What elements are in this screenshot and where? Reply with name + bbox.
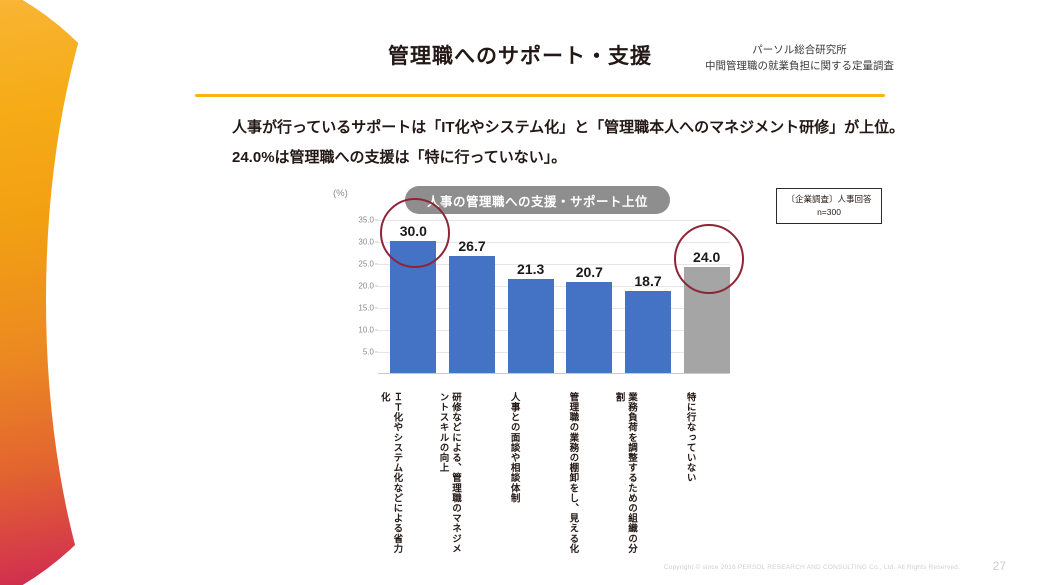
y-axis-tick-label: 10.0: [358, 326, 374, 335]
category-label-3: 人事との面談や相談体制: [474, 392, 520, 557]
y-axis-tick-mark: [375, 308, 378, 309]
chart-title-banner: 人事の管理職への支援・サポート上位: [405, 186, 670, 214]
axis-unit-label: (%): [333, 188, 348, 199]
lead-line-2: 24.0%は管理職への支援は「特に行っていない」。: [232, 143, 932, 173]
y-axis-tick-label: 5.0: [363, 348, 374, 357]
bar-6: 24.0: [684, 267, 730, 373]
bar-value-label: 21.3: [517, 261, 544, 277]
y-axis-tick-label: 30.0: [358, 238, 374, 247]
bar-value-label: 30.0: [400, 223, 427, 239]
y-axis-tick-mark: [375, 330, 378, 331]
bar-1: 30.0: [390, 241, 436, 373]
bar-3: 21.3: [508, 279, 554, 373]
y-axis-tick-label: 20.0: [358, 282, 374, 291]
title-divider-rule: [195, 94, 885, 97]
y-axis-tick-mark: [375, 264, 378, 265]
bar-value-label: 18.7: [634, 273, 661, 289]
y-axis-tick-label: 15.0: [358, 304, 374, 313]
bar-4: 20.7: [566, 282, 612, 373]
page-number: 27: [993, 559, 1006, 573]
bar-value-label: 20.7: [576, 264, 603, 280]
source-organization: パーソル総合研究所: [705, 42, 894, 58]
y-axis-tick-mark: [375, 242, 378, 243]
crescent-cutout: [46, 0, 180, 585]
y-axis-tick-label: 25.0: [358, 260, 374, 269]
category-label-2: 研修などによる、管理職のマネジメントスキルの向上: [415, 392, 461, 557]
source-attribution: パーソル総合研究所 中間管理職の就業負担に関する定量調査: [705, 42, 894, 75]
y-axis-tick-mark: [375, 220, 378, 221]
y-axis-tick-mark: [375, 286, 378, 287]
lead-line-1: 人事が行っているサポートは「IT化やシステム化」と「管理職本人へのマネジメント研…: [232, 113, 932, 143]
bar-5: 18.7: [625, 291, 671, 373]
survey-note-line-2: n=300: [779, 206, 879, 219]
plot-area: 5.010.015.020.025.030.035.0 30.026.721.3…: [352, 220, 730, 374]
survey-note-line-1: 〔企業調査〕人事回答: [779, 193, 879, 206]
lead-summary: 人事が行っているサポートは「IT化やシステム化」と「管理職本人へのマネジメント研…: [232, 113, 932, 173]
bar-2: 26.7: [449, 256, 495, 373]
y-axis-tick-mark: [375, 352, 378, 353]
gridline: [378, 220, 730, 221]
footer-copyright: Copyright © since 2016 PERSOL RESEARCH A…: [664, 564, 960, 571]
plot-frame: 5.010.015.020.025.030.035.0 30.026.721.3…: [378, 220, 730, 374]
source-survey-name: 中間管理職の就業負担に関する定量調査: [705, 58, 894, 74]
chart-container: (%) 人事の管理職への支援・サポート上位 〔企業調査〕人事回答 n=300 5…: [330, 186, 750, 396]
category-label-1: ＩＴ化やシステム化などによる省力化: [356, 392, 402, 557]
bar-value-label: 26.7: [458, 238, 485, 254]
survey-note-box: 〔企業調査〕人事回答 n=300: [776, 188, 882, 224]
category-label-5: 業務負荷を調整するための組織の分割: [591, 392, 637, 557]
gradient-band: [0, 0, 180, 585]
decorative-left-graphic: [0, 0, 180, 585]
bar-value-label: 24.0: [693, 249, 720, 265]
category-axis-labels: ＩＴ化やシステム化などによる省力化研修などによる、管理職のマネジメントスキルの向…: [352, 392, 752, 562]
category-label-4: 管理職の業務の棚卸をし、見える化: [532, 392, 578, 557]
category-label-6: 特に行なっていない: [650, 392, 696, 557]
y-axis-tick-label: 35.0: [358, 216, 374, 225]
